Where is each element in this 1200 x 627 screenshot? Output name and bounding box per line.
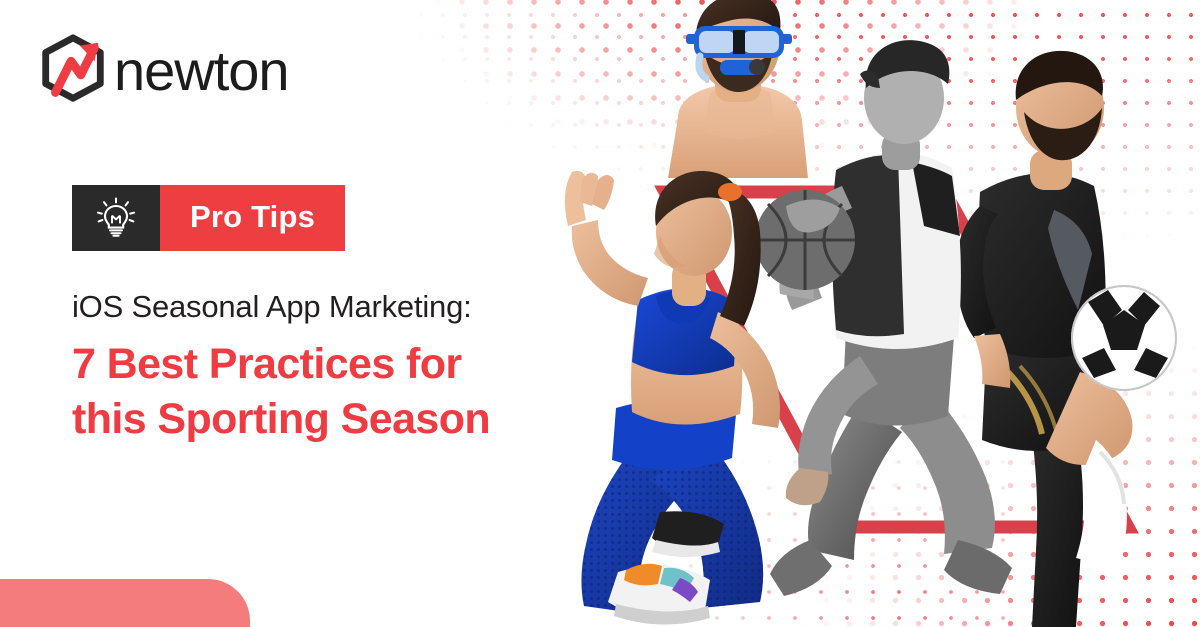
marketing-banner: newton Pro Tips iOS Seasonal App Marketi… [0, 0, 1200, 627]
soccer-ball-icon [1072, 286, 1176, 390]
hexagon-arrow-logo-icon [34, 32, 112, 110]
brand-name: newton [114, 43, 289, 99]
headline-line-2: this Sporting Season [72, 392, 632, 447]
swimmer-figure [668, 0, 808, 178]
badge-icon-box [72, 185, 160, 251]
headline-line-1: 7 Best Practices for [72, 337, 632, 392]
brand-logo[interactable]: newton [34, 32, 289, 110]
badge-label: Pro Tips [160, 185, 345, 251]
lightbulb-icon [96, 197, 136, 239]
collage-artwork [560, 0, 1200, 627]
pro-tips-badge[interactable]: Pro Tips [72, 185, 345, 251]
running-shoe-icon [608, 564, 710, 625]
sports-collage [560, 0, 1200, 627]
headline-eyebrow: iOS Seasonal App Marketing: [72, 288, 632, 325]
headline-block: iOS Seasonal App Marketing: 7 Best Pract… [72, 288, 632, 447]
bottom-left-accent-bar [0, 579, 250, 627]
